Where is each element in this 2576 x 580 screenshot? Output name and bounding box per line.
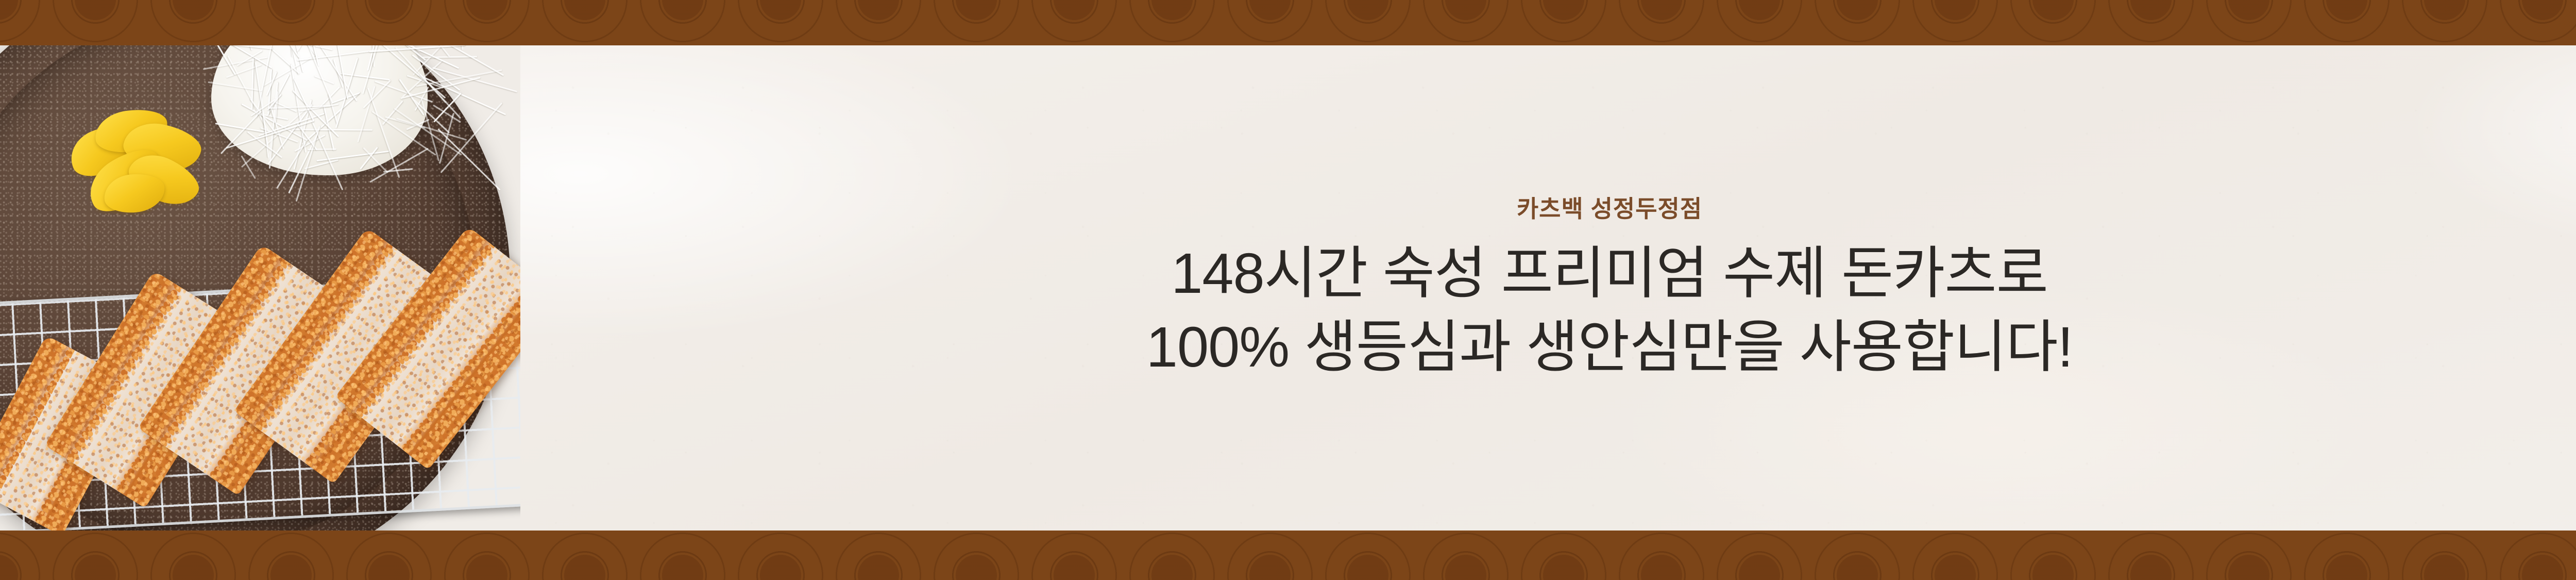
bottom-brown-band <box>0 531 2576 580</box>
left-food-photo <box>0 0 520 580</box>
cabbage-strand <box>439 113 454 164</box>
promo-banner: 카츠백 성정두정점 148시간 숙성 프리미엄 수제 돈카츠로 100% 생등심… <box>0 0 2576 580</box>
arch-pattern-icon <box>0 531 2576 580</box>
arch-pattern-icon <box>0 0 2576 45</box>
cabbage-strand <box>241 155 256 179</box>
top-brown-band <box>0 0 2576 45</box>
